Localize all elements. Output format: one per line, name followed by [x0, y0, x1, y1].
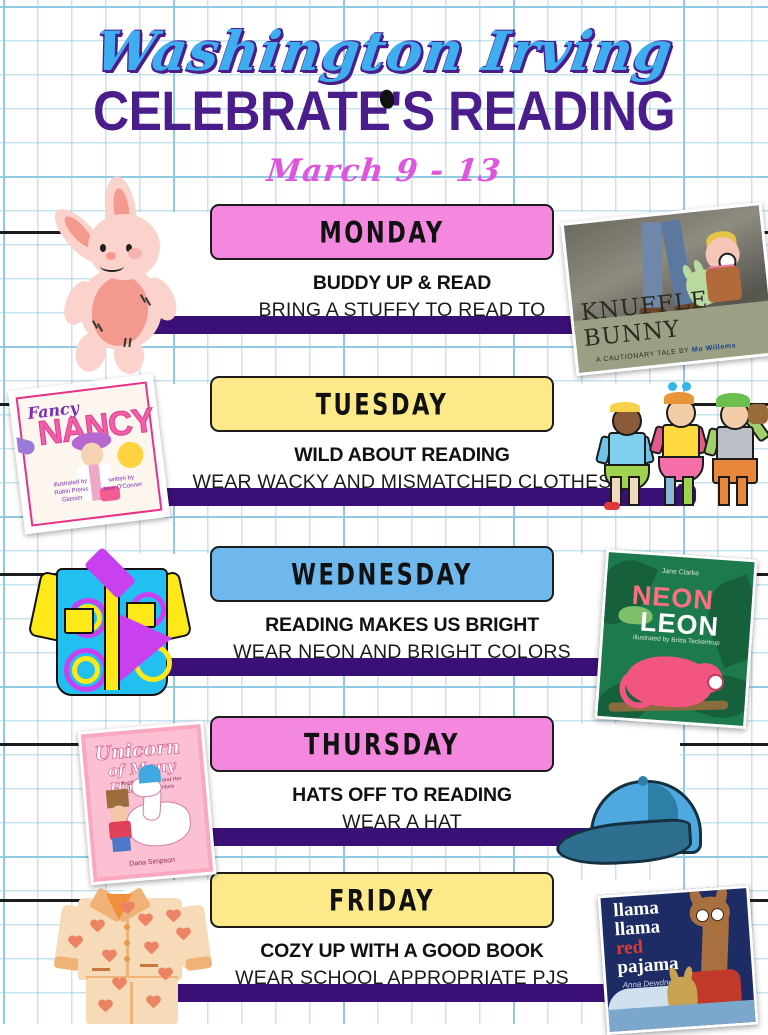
book-author: Jane Clarke: [661, 568, 699, 578]
book-cover-neon-leon: Jane Clarke NEON LEON illustrated by Bri…: [594, 549, 757, 729]
poster-header: Washington Irving CELEBRATE'S READING Ma…: [0, 0, 768, 188]
day-pill-thursday[interactable]: THURSDAY: [210, 716, 554, 772]
day-label: WEDNESDAY: [291, 557, 473, 591]
pajamas-illustration: [58, 884, 208, 1024]
kids-mismatched-clothes-illustration: [602, 388, 766, 508]
day-pill-monday[interactable]: MONDAY: [210, 204, 554, 260]
book-author: Dana Simpson: [96, 854, 208, 871]
date-range: March 9 - 13: [0, 154, 768, 188]
book-cover-unicorn-of-many-hats: Unicorn of Many Hats Another Phoebe and …: [78, 721, 217, 885]
day-label: THURSDAY: [304, 727, 460, 761]
day-pill-wednesday[interactable]: WEDNESDAY: [210, 546, 554, 602]
day-label: FRIDAY: [329, 883, 435, 917]
day-theme: READING MAKES US BRIGHT: [124, 614, 680, 637]
day-pill-tuesday[interactable]: TUESDAY: [210, 376, 554, 432]
day-label: TUESDAY: [316, 387, 449, 421]
neon-shirt-illustration: [34, 552, 186, 702]
book-title: llama llama red pajama: [613, 897, 679, 977]
day-pill-friday[interactable]: FRIDAY: [210, 872, 554, 928]
school-name: Washington Irving: [0, 22, 768, 80]
page-title: CELEBRATE'S READING: [0, 81, 768, 141]
book-cover-fancy-nancy: Fancy NANCY illustrated by Robin Preiss …: [8, 374, 170, 535]
book-cover-llama-llama-red-pajama: llama llama red pajama Anna Dewdney: [597, 885, 758, 1035]
day-label: MONDAY: [319, 215, 444, 249]
plush-bunny-illustration: [52, 172, 194, 372]
book-cover-knuffle-bunny: KNUFFLE BUNNY A CAUTIONARY TALE BY Mo Wi…: [561, 202, 768, 376]
baseball-cap-illustration: [556, 778, 716, 870]
